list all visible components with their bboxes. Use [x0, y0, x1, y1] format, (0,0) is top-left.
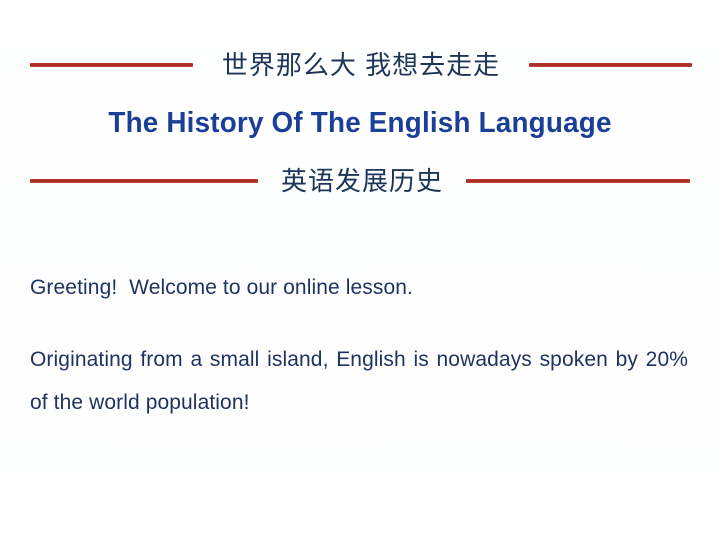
- decorative-rule-left-bottom: [30, 179, 258, 183]
- page-title: The History Of The English Language: [14, 108, 705, 140]
- tagline-row: 世界那么大 我想去走走: [0, 52, 720, 78]
- slide-body: Greeting! Welcome to our online lesson. …: [0, 266, 720, 424]
- chinese-tagline: 世界那么大 我想去走走: [193, 52, 529, 78]
- intro-paragraph: Originating from a small island, English…: [30, 338, 688, 424]
- decorative-rule-right-bottom: [466, 179, 690, 183]
- slide-header: 世界那么大 我想去走走 The History Of The English L…: [0, 0, 720, 194]
- slide-canvas: 世界那么大 我想去走走 The History Of The English L…: [0, 0, 720, 544]
- greeting-paragraph: Greeting! Welcome to our online lesson.: [30, 266, 688, 309]
- decorative-rule-right-top: [529, 63, 692, 67]
- decorative-rule-left-top: [30, 63, 193, 67]
- subtitle-row: 英语发展历史: [0, 168, 720, 194]
- chinese-subtitle: 英语发展历史: [258, 168, 466, 194]
